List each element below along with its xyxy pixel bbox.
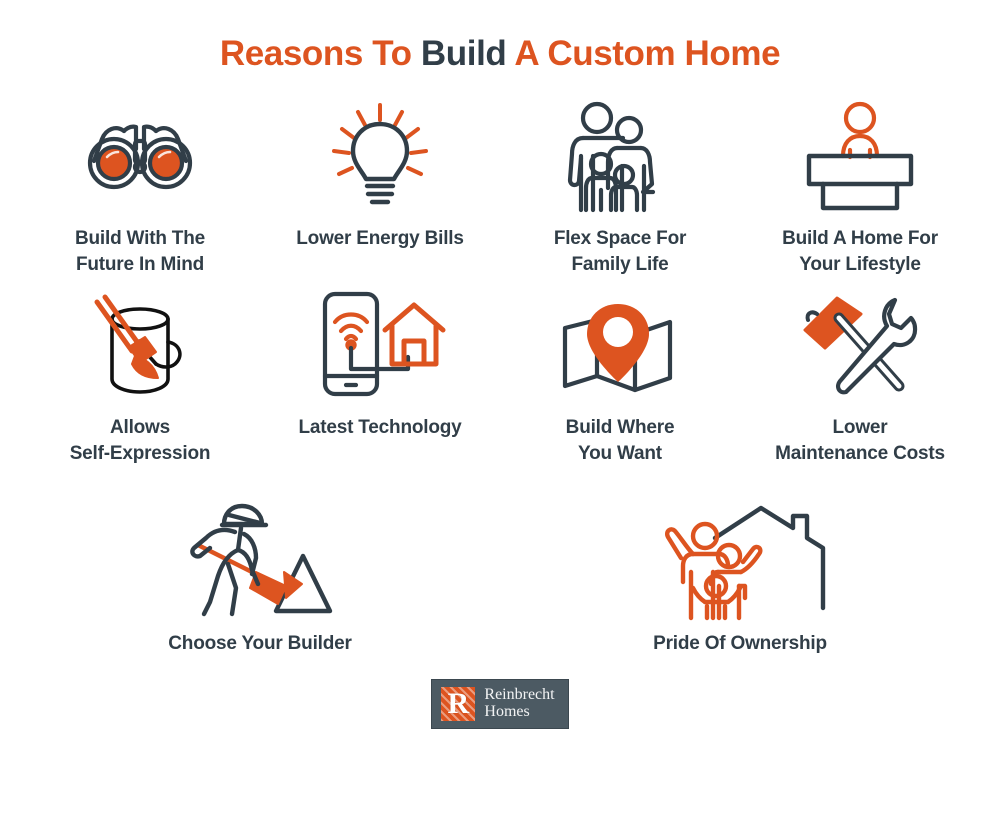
reason-label: Build Where You Want — [566, 415, 675, 467]
reason-item: Allows Self-Expression — [20, 279, 260, 467]
desk-person-icon — [795, 90, 925, 220]
reason-label: Pride Of Ownership — [653, 631, 827, 657]
title-part-2: Build — [421, 34, 506, 73]
reason-label: Lower Energy Bills — [296, 226, 463, 252]
builder-icon — [180, 495, 340, 625]
reason-item: Build A Home For Your Lifestyle — [740, 90, 980, 278]
reasons-grid-partial: Choose Your Builder — [0, 467, 1000, 657]
reason-label: Build A Home For Your Lifestyle — [782, 226, 938, 278]
reason-item: Lower Energy Bills — [260, 90, 500, 278]
reason-label: Choose Your Builder — [168, 631, 351, 657]
family-icon — [565, 90, 675, 220]
title-part-1: Reasons To — [220, 34, 421, 73]
reason-item: Flex Space For Family Life — [500, 90, 740, 278]
logo-mark-icon: R — [441, 687, 475, 721]
logo-wordmark: Reinbrecht Homes — [484, 687, 554, 721]
reason-item: Choose Your Builder — [20, 495, 500, 657]
lightbulb-icon — [320, 90, 440, 220]
reason-item: Build With The Future In Mind — [20, 90, 260, 278]
hammer-wrench-icon — [795, 279, 925, 409]
reason-label: Flex Space For Family Life — [554, 226, 686, 278]
reason-item: Lower Maintenance Costs — [740, 279, 980, 467]
logo-letter: R — [441, 687, 475, 721]
reason-item: Build Where You Want — [500, 279, 740, 467]
reasons-grid: Build With The Future In Mind — [0, 74, 1000, 467]
page-title: Reasons To Build A Custom Home — [0, 0, 1000, 74]
paint-can-icon — [78, 279, 203, 409]
brand-logo[interactable]: R Reinbrecht Homes — [431, 679, 568, 729]
reason-item: Pride Of Ownership — [500, 495, 980, 657]
reason-label: Build With The Future In Mind — [75, 226, 205, 278]
title-part-3: A Custom Home — [506, 34, 780, 73]
reason-item: Latest Technology — [260, 279, 500, 467]
logo-container: R Reinbrecht Homes — [0, 679, 1000, 729]
family-house-icon — [653, 495, 828, 625]
infographic-page: Reasons To Build A Custom Home — [0, 0, 1000, 820]
binoculars-icon — [80, 90, 200, 220]
smart-home-icon — [313, 279, 448, 409]
reason-label: Allows Self-Expression — [70, 415, 211, 467]
map-pin-icon — [555, 279, 685, 409]
reason-label: Latest Technology — [298, 415, 461, 441]
reason-label: Lower Maintenance Costs — [775, 415, 945, 467]
